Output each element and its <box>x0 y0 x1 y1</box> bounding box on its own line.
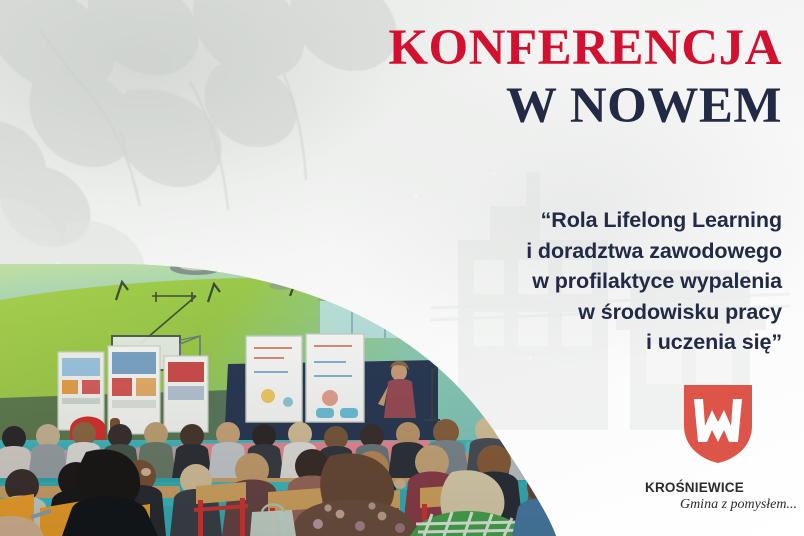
logo-tagline: Gmina z pomysłem... <box>645 497 797 513</box>
coat-of-arms-shield-icon <box>683 384 753 464</box>
page-title: KONFERENCJA W NOWEM <box>222 22 782 132</box>
logo-municipality-name: KROŚNIEWICE <box>645 480 795 495</box>
quote-line-3: w profilaktyce wypalenia <box>362 266 782 297</box>
conference-poster: KONFERENCJA W NOWEM “Rola Lifelong Learn… <box>0 0 804 536</box>
title-line-2: W NOWEM <box>222 80 782 132</box>
krosniewice-logo: KROŚNIEWICE Gmina z pomysłem... <box>645 384 795 524</box>
quote-line-5: i uczenia się” <box>362 327 782 358</box>
quote-line-2: i doradztwa zawodowego <box>362 236 782 267</box>
quote-line-1: “Rola Lifelong Learning <box>362 205 782 236</box>
title-line-1: KONFERENCJA <box>222 22 782 74</box>
quote-line-4: w środowisku pracy <box>362 297 782 328</box>
conference-subject-quote: “Rola Lifelong Learning i doradztwa zawo… <box>362 205 782 358</box>
